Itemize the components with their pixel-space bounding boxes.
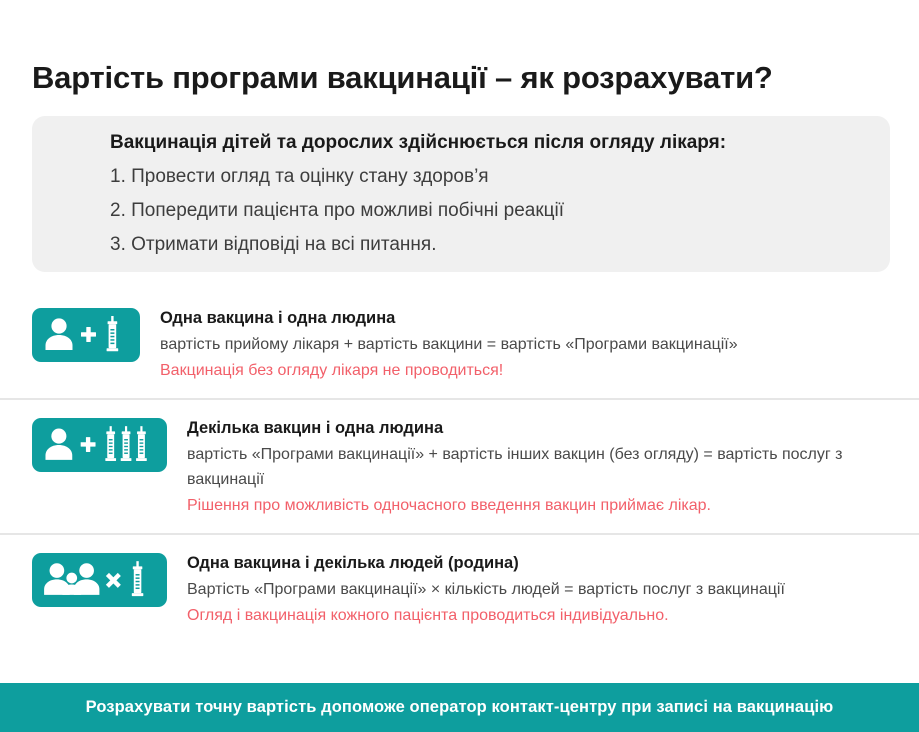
footer-banner: Розрахувати точну вартість допоможе опер… xyxy=(0,683,919,732)
scenario-body: Декілька вакцин і одна людина вартість «… xyxy=(167,416,889,519)
intro-panel: Вакцинація дітей та дорослих здійснюєтьс… xyxy=(32,116,890,272)
scenario-body: Одна вакцина і декілька людей (родина) В… xyxy=(167,551,889,629)
intro-heading: Вакцинація дітей та дорослих здійснюєтьс… xyxy=(110,126,890,160)
scenario-note: Рішення про можливість одночасного введе… xyxy=(187,492,889,519)
scenario-row: Одна вакцина і одна людина вартість прий… xyxy=(0,290,919,398)
scenario-row: Одна вакцина і декілька людей (родина) В… xyxy=(0,533,919,643)
family-times-syringe-icon xyxy=(32,553,167,607)
scenario-note: Вакцинація без огляду лікаря не проводит… xyxy=(160,357,889,384)
cost-scenarios-list: Одна вакцина і одна людина вартість прий… xyxy=(0,290,919,643)
person-plus-syringe-icon xyxy=(32,308,140,362)
page-title: Вартість програми вакцинації – як розрах… xyxy=(32,59,892,96)
intro-step-2: 2. Попередити пацієнта про можливі побіч… xyxy=(110,194,890,228)
scenario-row: Декілька вакцин і одна людина вартість «… xyxy=(0,398,919,533)
intro-step-1: 1. Провести огляд та оцінку стану здоров… xyxy=(110,160,890,194)
intro-step-3: 3. Отримати відповіді на всі питання. xyxy=(110,228,890,262)
footer-text: Розрахувати точну вартість допоможе опер… xyxy=(86,698,834,717)
scenario-title: Декілька вакцин і одна людина xyxy=(187,416,889,441)
scenario-title: Одна вакцина і декілька людей (родина) xyxy=(187,551,889,576)
scenario-body: Одна вакцина і одна людина вартість прий… xyxy=(140,306,889,384)
scenario-formula: вартість прийому лікаря + вартість вакци… xyxy=(160,332,889,357)
scenario-formula: Вартість «Програми вакцинації» × кількіс… xyxy=(187,577,889,602)
scenario-note: Огляд і вакцинація кожного пацієнта пров… xyxy=(187,602,889,629)
scenario-formula: вартість «Програми вакцинації» + вартіст… xyxy=(187,442,889,492)
person-plus-three-syringes-icon xyxy=(32,418,167,472)
infographic-page: { "title": "Вартість програми вакцинації… xyxy=(0,0,919,732)
scenario-title: Одна вакцина і одна людина xyxy=(160,306,889,331)
